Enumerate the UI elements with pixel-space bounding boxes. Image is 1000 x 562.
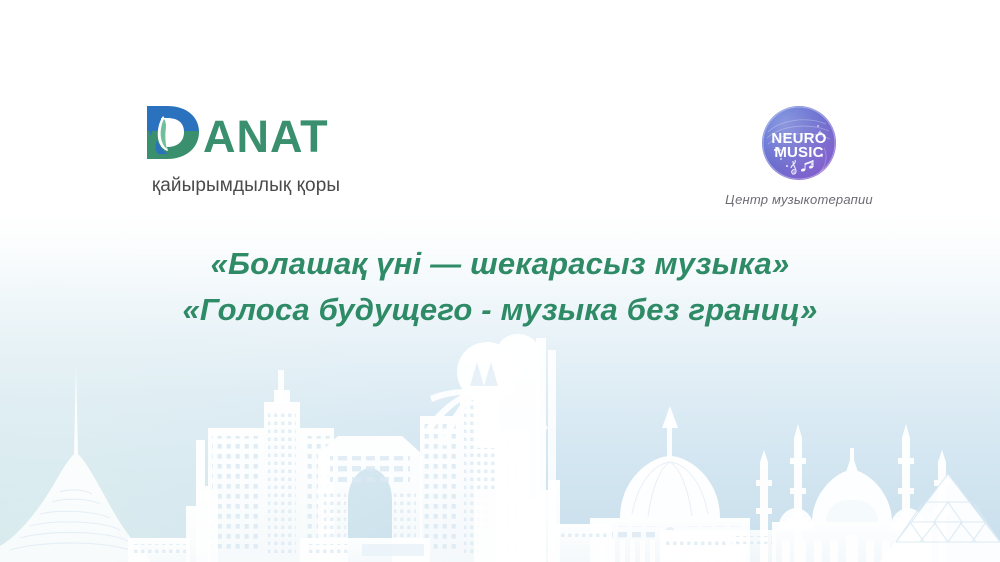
danat-logo-block: ANAT қайырымдылық қоры [137, 104, 367, 197]
low-block-right [728, 530, 776, 562]
svg-text:ANAT: ANAT [203, 111, 329, 162]
neuro-music-circle-logo: NEURO MUSIC [760, 104, 838, 182]
banner-canvas: ANAT қайырымдылық қоры [0, 0, 1000, 562]
title-line-russian: «Голоса будущего - музыка без границ» [0, 289, 1000, 331]
logo-row: ANAT қайырымдылық қоры [0, 0, 1000, 215]
astana-skyline-silhouette [0, 332, 1000, 562]
title-line-kazakh: «Болашақ үні — шекарасыз музыка» [0, 243, 1000, 285]
khan-shatyr-tent [0, 366, 150, 562]
neuro-music-subtitle: Центр музыкотерапии [714, 192, 884, 207]
danat-subtitle: қайырымдылық қоры [139, 175, 353, 197]
low-block-b [556, 524, 612, 562]
office-tower-midleft [196, 490, 218, 562]
svg-text:MUSIC: MUSIC [774, 144, 823, 161]
neuro-music-logo-block: NEURO MUSIC Центр музы [714, 104, 884, 207]
danat-d-leaf-logo: ANAT [137, 104, 367, 166]
event-title: «Болашақ үні — шекарасыз музыка» «Голоса… [0, 243, 1000, 331]
